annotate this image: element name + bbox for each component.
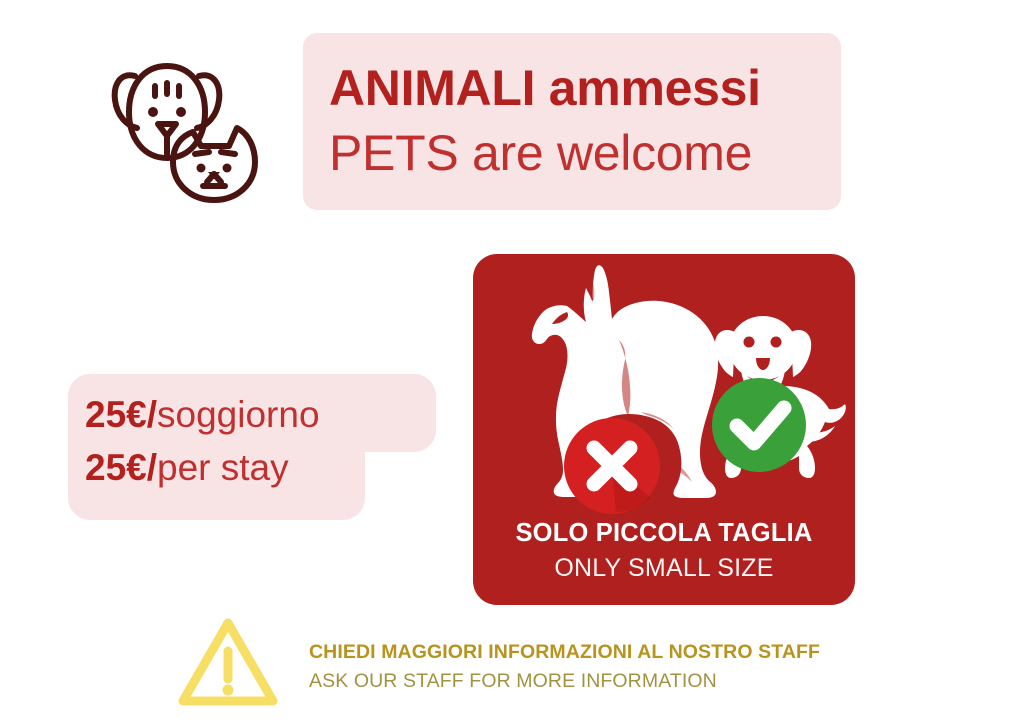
warning-triangle-icon: [176, 613, 280, 713]
cross-badge-icon: [564, 418, 660, 514]
price-unit-english: per stay: [157, 447, 289, 488]
footer-notice-english: ASK OUR STAFF FOR MORE INFORMATION: [309, 666, 934, 696]
price-row-italian: 25€/soggiorno: [85, 388, 436, 441]
title-english: PETS are welcome: [329, 121, 815, 185]
dog-and-cat-heads-icon: [95, 50, 275, 210]
check-badge-icon: [712, 378, 806, 472]
size-restriction-card: SOLO PICCOLA TAGLIA ONLY SMALL SIZE: [473, 254, 855, 605]
pets-policy-poster: ANIMALI ammessi PETS are welcome 25€/sog…: [0, 0, 1024, 724]
price-row-english: 25€/per stay: [85, 441, 436, 494]
size-card-figures: [473, 262, 855, 517]
price-amount-english: 25€/: [85, 447, 157, 488]
header-banner: ANIMALI ammessi PETS are welcome: [303, 33, 841, 210]
footer-texts: CHIEDI MAGGIORI INFORMAZIONI AL NOSTRO S…: [309, 638, 934, 696]
title-italian: ANIMALI ammessi: [329, 55, 815, 121]
footer-notice-italian: CHIEDI MAGGIORI INFORMAZIONI AL NOSTRO S…: [309, 638, 934, 666]
size-card-caption: SOLO PICCOLA TAGLIA ONLY SMALL SIZE: [473, 516, 855, 586]
price-block: 25€/soggiorno 25€/per stay: [68, 374, 436, 520]
size-caption-english: ONLY SMALL SIZE: [473, 551, 855, 586]
title-italian-rest: ammessi: [535, 60, 761, 116]
footer-notice: CHIEDI MAGGIORI INFORMAZIONI AL NOSTRO S…: [176, 612, 936, 716]
price-rows: 25€/soggiorno 25€/per stay: [68, 374, 436, 520]
price-amount-italian: 25€/: [85, 394, 157, 435]
price-unit-italian: soggiorno: [157, 394, 320, 435]
title-italian-strong: ANIMALI: [329, 60, 535, 116]
size-caption-italian: SOLO PICCOLA TAGLIA: [473, 516, 855, 551]
